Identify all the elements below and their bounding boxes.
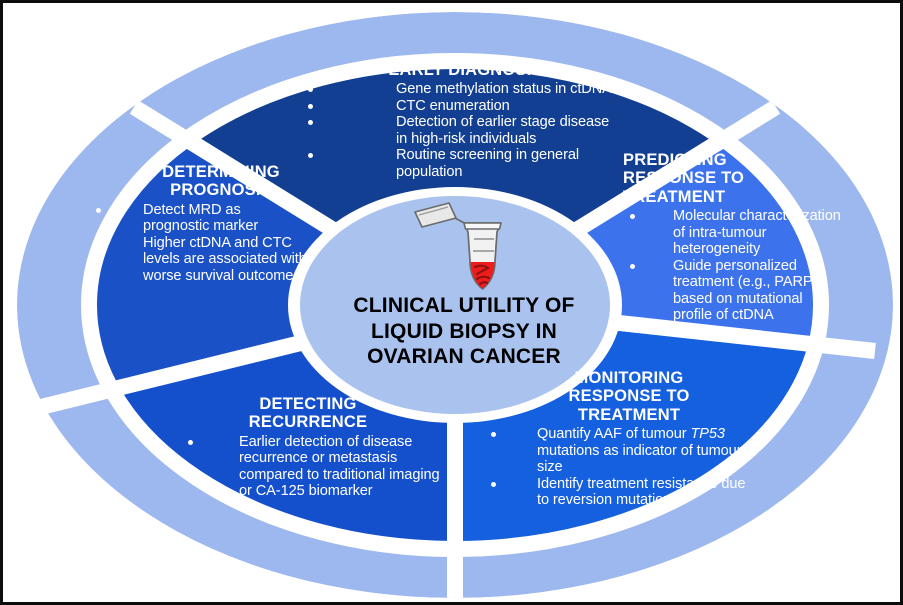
- segment-title-monitoring-response: MONITORING RESPONSE TO TREATMENT: [469, 369, 759, 424]
- liquid-biopsy-wheel-diagram: EARLY DIAGNOSIS Gene methylation status …: [0, 0, 903, 605]
- bullet-list-monitoring-response: Quantify AAF of tumour TP53 mutations as…: [469, 426, 759, 508]
- segment-text-predicting-response: PREDICTING RESPONSE TO TREATMENT Molecul…: [611, 151, 843, 324]
- bullet-icon: [308, 120, 313, 125]
- title-line: DETERMINING: [133, 163, 309, 181]
- bullet-icon: [491, 482, 496, 487]
- bullet-label: Earlier detection of disease recurrence …: [239, 434, 453, 500]
- segment-title-predicting-response: PREDICTING RESPONSE TO TREATMENT: [611, 151, 843, 206]
- title-line: RESPONSE TO: [623, 169, 843, 187]
- bullet-label: Gene methylation status in ctDNA: [396, 81, 623, 97]
- list-item: Identify treatment resistance due to rev…: [469, 476, 759, 509]
- segment-text-early-diagnosis: EARLY DIAGNOSIS Gene methylation status …: [288, 61, 623, 180]
- list-item: Guide personalized treatment (e.g., PARP…: [611, 258, 843, 324]
- bullet-text-pre: Quantify AAF of tumour: [537, 426, 690, 442]
- segment-text-detecting-recurrence: DETECTING RECURRENCE Earlier detection o…: [163, 395, 453, 500]
- list-item: Higher ctDNA and CTC levels are associat…: [91, 235, 309, 284]
- list-item: Earlier detection of disease recurrence …: [163, 434, 453, 500]
- bullet-label: Identify treatment resistance due to rev…: [537, 476, 759, 509]
- bullet-label: Detection of earlier stage disease in hi…: [396, 114, 623, 147]
- bullet-icon: [491, 432, 496, 437]
- center-title-line: LIQUID BIOPSY IN: [299, 319, 629, 345]
- list-item: Gene methylation status in ctDNA: [288, 81, 623, 97]
- bullet-list-detecting-recurrence: Earlier detection of disease recurrence …: [163, 434, 453, 500]
- list-item: CTC enumeration: [288, 98, 623, 114]
- list-item: Detect MRD as prognostic marker: [91, 202, 309, 235]
- center-title: CLINICAL UTILITY OF LIQUID BIOPSY IN OVA…: [299, 293, 629, 370]
- bullet-label: Guide personalized treatment (e.g., PARP…: [673, 258, 843, 324]
- bullet-list-determining-prognosis: Detect MRD as prognostic marker Higher c…: [91, 202, 309, 284]
- bullet-label: Higher ctDNA and CTC levels are associat…: [143, 235, 309, 284]
- segment-title-detecting-recurrence: DETECTING RECURRENCE: [163, 395, 453, 432]
- bullet-icon: [308, 153, 313, 158]
- bullet-icon: [96, 241, 101, 246]
- bullet-icon: [308, 87, 313, 92]
- segment-text-monitoring-response: MONITORING RESPONSE TO TREATMENT Quantif…: [469, 369, 759, 509]
- bullet-label: Quantify AAF of tumour TP53 mutations as…: [537, 426, 759, 475]
- bullet-icon: [630, 214, 635, 219]
- title-line: RECURRENCE: [163, 413, 453, 431]
- segment-title-early-diagnosis: EARLY DIAGNOSIS: [288, 61, 623, 79]
- list-item: Routine screening in general population: [288, 147, 623, 180]
- bullet-icon: [96, 208, 101, 213]
- list-item: Detection of earlier stage disease in hi…: [288, 114, 623, 147]
- bullet-icon: [188, 440, 193, 445]
- title-line: TREATMENT: [499, 406, 759, 424]
- title-line: PROGNOSIS: [133, 181, 309, 199]
- bullet-text-post: mutations as indicator of tumour size: [537, 443, 741, 475]
- bullet-icon: [308, 104, 313, 109]
- bullet-list-predicting-response: Molecular characterization of intra-tumo…: [611, 208, 843, 323]
- center-title-line: OVARIAN CANCER: [299, 344, 629, 370]
- bullet-label: Molecular characterization of intra-tumo…: [673, 208, 843, 257]
- center-title-line: CLINICAL UTILITY OF: [299, 293, 629, 319]
- title-line: DETECTING: [163, 395, 453, 413]
- list-item: Molecular characterization of intra-tumo…: [611, 208, 843, 257]
- title-line: PREDICTING: [623, 151, 843, 169]
- title-line: RESPONSE TO: [499, 387, 759, 405]
- bullet-label: CTC enumeration: [396, 98, 623, 114]
- title-line: MONITORING: [499, 369, 759, 387]
- bullet-label: Routine screening in general population: [396, 147, 623, 180]
- bullet-icon: [630, 264, 635, 269]
- blood-collection-tube-icon: [409, 199, 519, 299]
- title-line: TREATMENT: [623, 188, 843, 206]
- bullet-label: Detect MRD as prognostic marker: [143, 202, 309, 235]
- segment-text-determining-prognosis: DETERMINING PROGNOSIS Detect MRD as prog…: [91, 163, 309, 284]
- gene-name-tp53: TP53: [690, 426, 724, 442]
- segment-title-determining-prognosis: DETERMINING PROGNOSIS: [91, 163, 309, 200]
- list-item: Quantify AAF of tumour TP53 mutations as…: [469, 426, 759, 475]
- bullet-list-early-diagnosis: Gene methylation status in ctDNA CTC enu…: [288, 81, 623, 180]
